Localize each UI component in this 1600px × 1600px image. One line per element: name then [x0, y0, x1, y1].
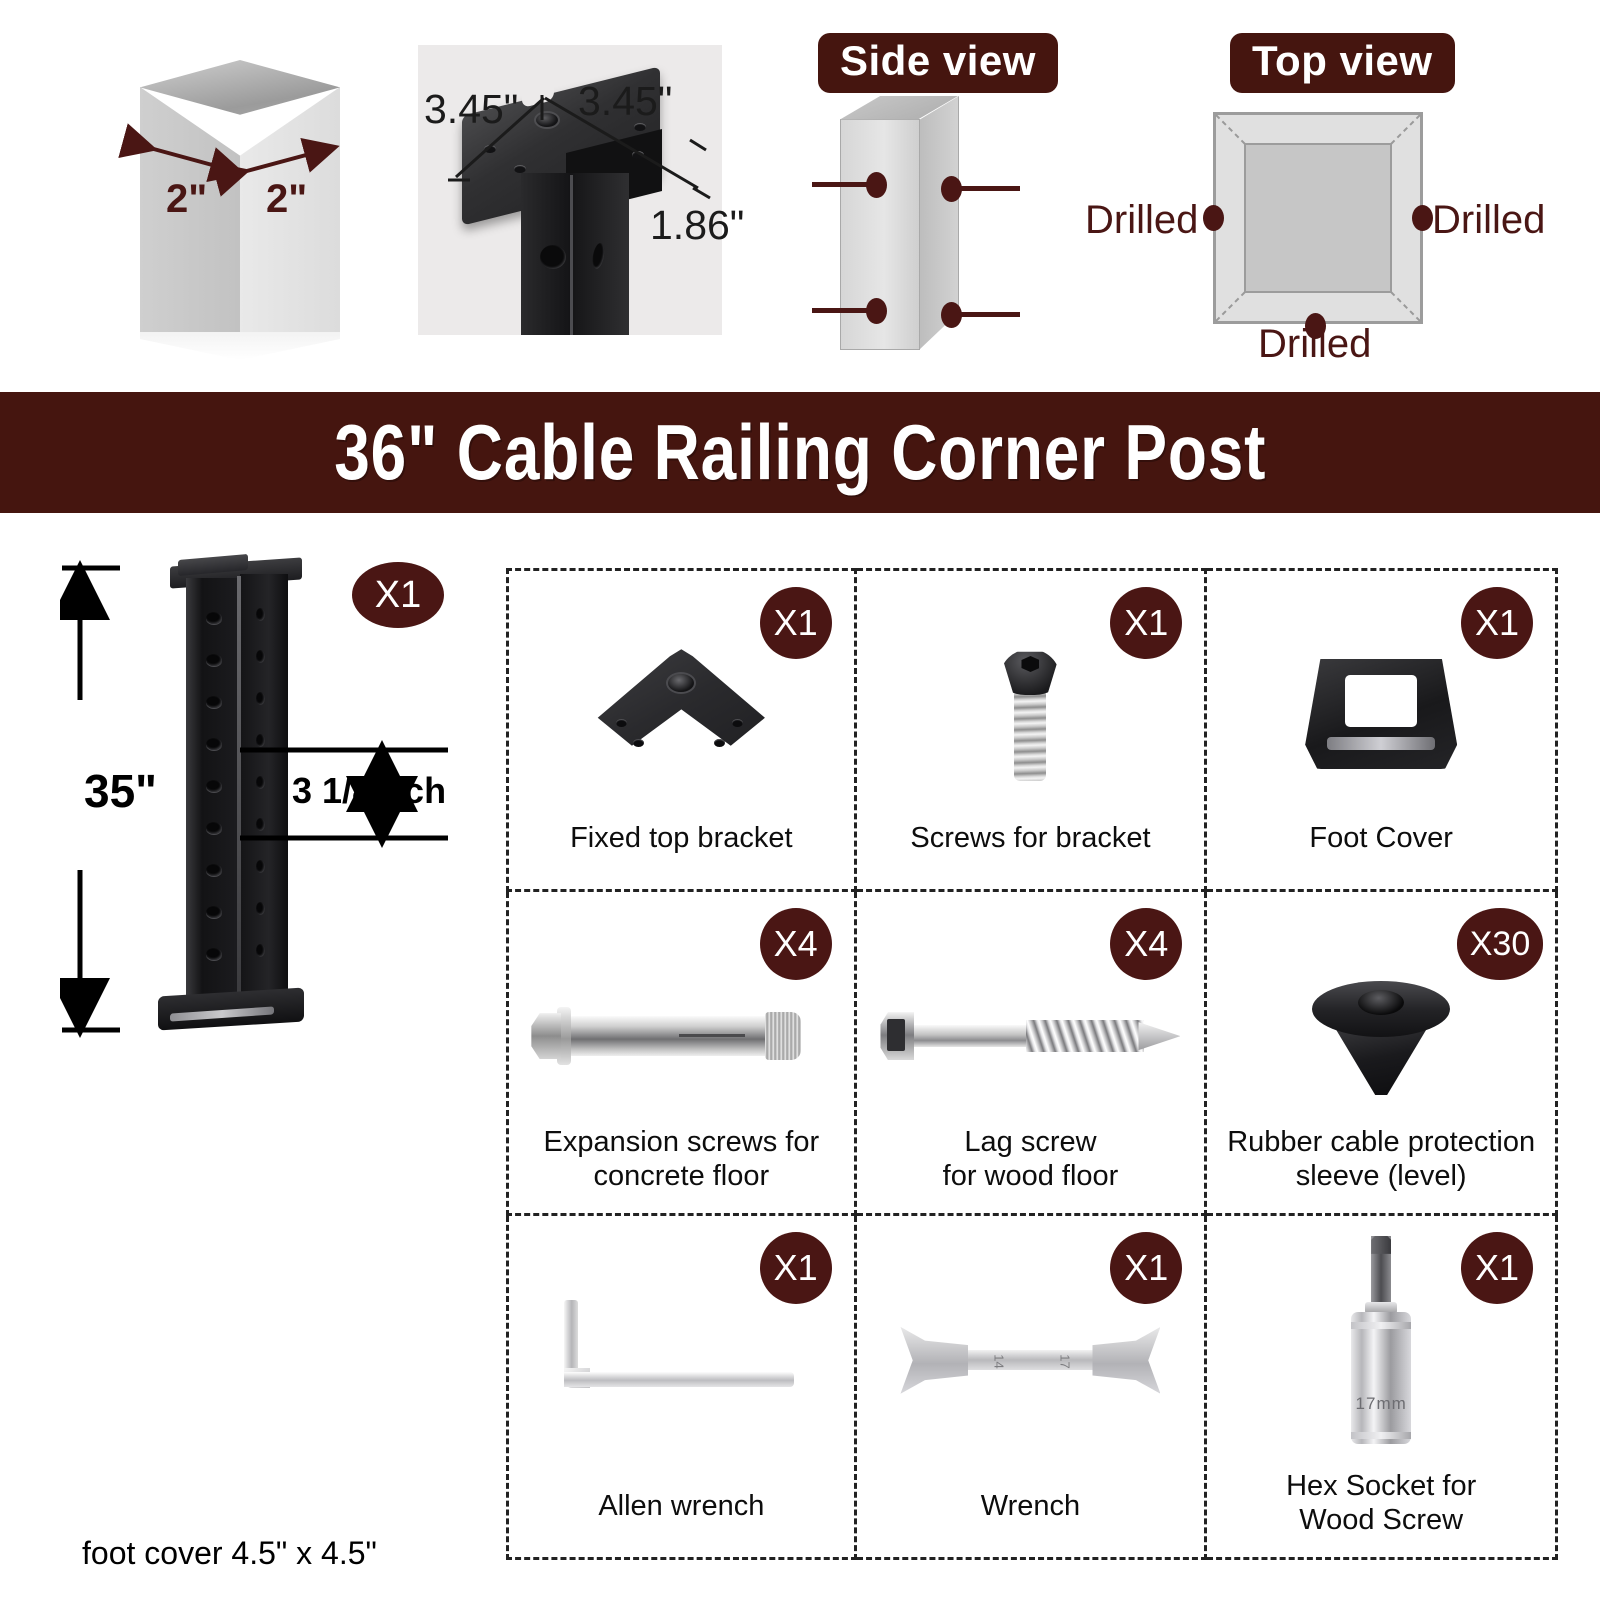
corner-bracket-icon	[509, 625, 854, 805]
part-label-line1: Hex Socket for	[1213, 1469, 1549, 1503]
side-view-badge: Side view	[818, 33, 1058, 93]
bracket-dim-top-label: 3.45"	[578, 78, 672, 125]
open-end-wrench-icon: 14 17	[857, 1270, 1205, 1450]
part-label-line2: for wood floor	[863, 1159, 1199, 1193]
part-label-line2: Wood Screw	[1213, 1503, 1549, 1537]
part-cell-hex-socket[interactable]: X1 17mm Hex Socket for Wood Screw	[1207, 1216, 1558, 1560]
drilled-label-right: Drilled	[1432, 198, 1545, 243]
drill-hole-marker	[866, 172, 887, 198]
expansion-anchor-icon	[509, 946, 854, 1126]
part-label: Fixed top bracket	[515, 821, 848, 855]
part-label: Screws for bracket	[863, 821, 1199, 855]
drilled-label-left: Drilled	[1085, 198, 1198, 243]
drilled-label-bottom: Drilled	[1258, 322, 1371, 367]
part-label: Wrench	[863, 1489, 1199, 1523]
drill-leader-line	[958, 312, 1020, 317]
dimension-label-right-2in: 2"	[266, 177, 307, 222]
part-cell-rubber-sleeve[interactable]: X30 Rubber cable protection sleeve (leve…	[1207, 892, 1558, 1216]
bracket-dimension-lines	[410, 40, 740, 340]
part-label-line2: concrete floor	[515, 1159, 848, 1193]
top-view-badge: Top view	[1230, 33, 1455, 93]
part-label: Hex Socket for Wood Screw	[1213, 1469, 1549, 1537]
dimension-arrows-2in	[110, 45, 370, 365]
title-banner: 36" Cable Railing Corner Post	[0, 392, 1600, 513]
part-label: Foot Cover	[1213, 821, 1549, 855]
dimension-label-left-2in: 2"	[166, 177, 207, 222]
post-height-dimension	[60, 540, 500, 1600]
drill-hole-marker-right	[1412, 205, 1433, 231]
post-cross-section-diagram: 2" 2"	[110, 45, 370, 365]
part-cell-wrench[interactable]: X1 14 17 Wrench	[857, 1216, 1208, 1560]
post-dimension-diagram: 35" 3 1/8inch X1 foot cover 4.5" x 4.5"	[60, 540, 500, 1600]
part-label: Rubber cable protection sleeve (level)	[1213, 1125, 1549, 1193]
part-cell-lag-screw[interactable]: X4 Lag screw for wood floor	[857, 892, 1208, 1216]
wrench-size-mark-b: 17	[1058, 1355, 1073, 1369]
bracket-dim-left-label: 3.45"	[424, 86, 518, 133]
part-label-line2: sleeve (level)	[1213, 1159, 1549, 1193]
part-cell-foot-cover[interactable]: X1 Foot Cover	[1207, 568, 1558, 892]
part-cell-fixed-top-bracket[interactable]: X1 Fixed top bracket	[506, 568, 857, 892]
drill-hole-marker	[866, 298, 887, 324]
product-infographic: 2" 2" 3.45" 3.45" 1.	[0, 0, 1600, 1600]
foot-cover-icon	[1207, 625, 1555, 805]
drill-hole-marker-left	[1203, 205, 1224, 231]
top-view-chamfer-lines	[1213, 112, 1423, 324]
part-cell-allen-wrench[interactable]: X1 Allen wrench	[506, 1216, 857, 1560]
rubber-sleeve-icon	[1207, 946, 1555, 1126]
part-label: Lag screw for wood floor	[863, 1125, 1199, 1193]
post-hole-spacing-label: 3 1/8inch	[292, 770, 446, 812]
drill-leader-line	[958, 186, 1020, 191]
allen-wrench-icon	[509, 1270, 854, 1450]
socket-size-text: 17mm	[1333, 1394, 1429, 1414]
part-label: Allen wrench	[515, 1489, 848, 1523]
part-label-line1: Lag screw	[863, 1125, 1199, 1159]
post-height-label: 35"	[84, 764, 157, 818]
page-title: 36" Cable Railing Corner Post	[334, 407, 1266, 498]
top-diagram-section: 2" 2" 3.45" 3.45" 1.	[0, 0, 1600, 392]
lag-screw-icon	[857, 946, 1205, 1126]
parts-list-grid: X1 Fixed top bracket X1	[506, 568, 1558, 1560]
part-cell-expansion-screws[interactable]: X4 Expansion screws for concrete floor	[506, 892, 857, 1216]
part-label-line1: Expansion screws for	[515, 1125, 848, 1159]
wrench-size-mark-a: 14	[992, 1355, 1007, 1369]
foot-cover-caption: foot cover 4.5" x 4.5"	[82, 1535, 377, 1572]
part-label: Expansion screws for concrete floor	[515, 1125, 848, 1193]
post-quantity-badge: X1	[352, 562, 444, 628]
top-view-post-section	[1213, 112, 1423, 324]
bracket-dim-right-label: 1.86"	[650, 202, 744, 249]
hex-socket-icon: 17mm	[1207, 1238, 1555, 1453]
part-label-line1: Rubber cable protection	[1213, 1125, 1549, 1159]
part-cell-screws-for-bracket[interactable]: X1 Screws for bracket	[857, 568, 1208, 892]
flat-head-screw-icon	[857, 625, 1205, 805]
